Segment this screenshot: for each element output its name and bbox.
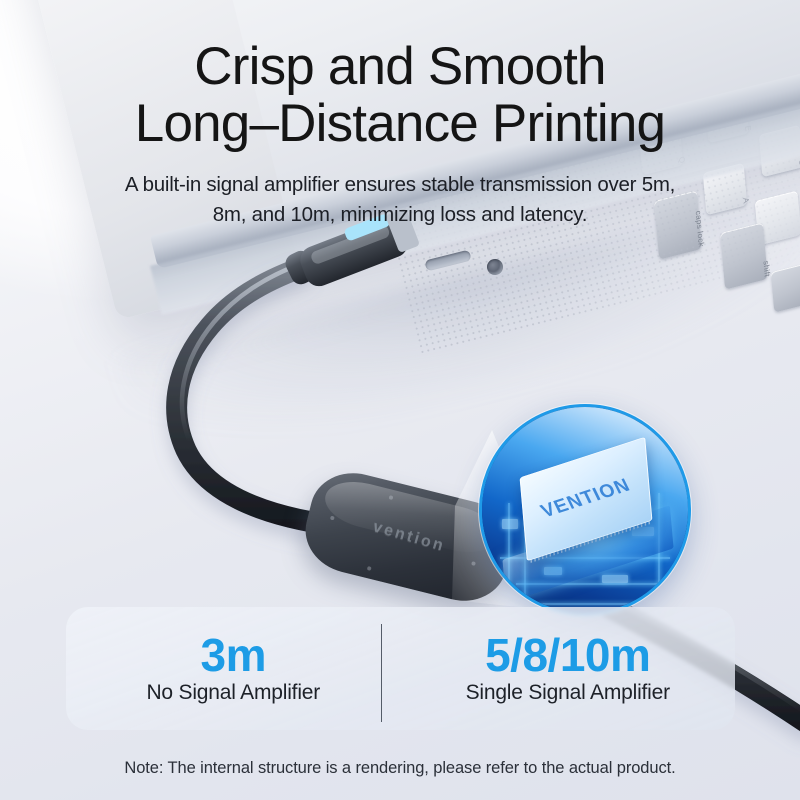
comparison-left: 3m No Signal Amplifier [66,632,401,705]
comparison-divider [381,624,382,722]
disclaimer-note: Note: The internal structure is a render… [0,759,800,778]
headline-line-1: Crisp and Smooth [0,38,800,95]
headline-line-2: Long–Distance Printing [0,95,800,152]
page-subtitle: A built-in signal amplifier ensures stab… [50,170,750,231]
comparison-left-value: 3m [201,632,266,679]
comparison-right-caption: Single Signal Amplifier [466,681,670,705]
page-title: Crisp and Smooth Long–Distance Printing [0,38,800,152]
product-marketing-image: E Q A S caps lock shift fn [0,0,800,800]
comparison-right-value: 5/8/10m [485,632,650,679]
chip-brand-label: VENTION [538,475,635,523]
subhead-line-2: 8m, and 10m, minimizing loss and latency… [50,200,750,230]
comparison-right: 5/8/10m Single Signal Amplifier [401,632,736,705]
pcb-trace [538,603,656,605]
subhead-line-1: A built-in signal amplifier ensures stab… [50,170,750,200]
magnifier-content: VENTION [482,407,688,613]
chip-magnifier-inset: VENTION [479,404,691,616]
comparison-left-caption: No Signal Amplifier [146,681,320,705]
comparison-panel: 3m No Signal Amplifier 5/8/10m Single Si… [66,607,735,730]
